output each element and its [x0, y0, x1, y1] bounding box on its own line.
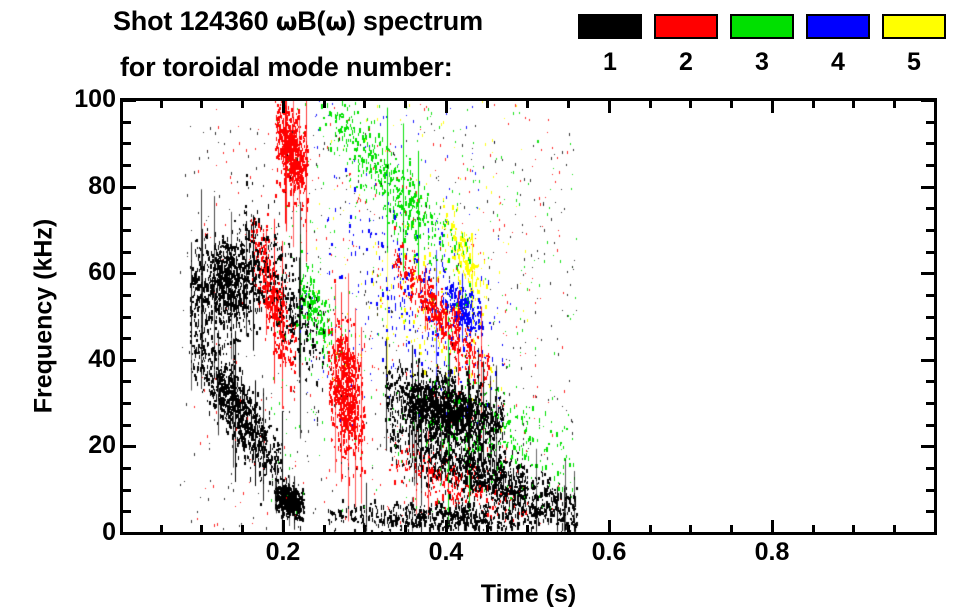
ytick-left-85 [123, 164, 131, 167]
title-mid: B( [297, 6, 325, 36]
xtick-bottom-0.95 [893, 525, 896, 533]
y-tick-label-0: 0 [102, 520, 116, 545]
ytick-right-75 [926, 207, 934, 210]
xtick-bottom-1 [934, 520, 937, 533]
ytick-right-65 [926, 251, 934, 254]
ytick-right-5 [926, 510, 934, 513]
ytick-right-95 [926, 121, 934, 124]
ytick-right-50 [926, 316, 934, 319]
spectrogram-canvas [122, 100, 935, 533]
legend-swatch-mode-3 [730, 14, 794, 39]
x-tick-label-0.6: 0.6 [569, 540, 649, 565]
xtick-top-0.7 [689, 100, 692, 108]
xtick-bottom-0.75 [730, 525, 733, 533]
ytick-right-100 [921, 99, 934, 102]
xtick-top-0.85 [812, 100, 815, 108]
ytick-right-35 [926, 380, 934, 383]
spectrogram-plot: 020406080100 0.20.40.60.8 Frequency (kHz… [122, 100, 935, 533]
ytick-right-0 [921, 532, 934, 535]
ytick-left-70 [123, 229, 131, 232]
ytick-left-95 [123, 121, 131, 124]
legend-item-1: 1 [578, 14, 642, 75]
figure-title-line1: Shot 124360 ωB(ω) spectrum [113, 6, 483, 37]
xtick-top-0.6 [608, 100, 611, 113]
xtick-top-0.1 [200, 100, 203, 108]
xtick-bottom-0.3 [363, 525, 366, 533]
ytick-left-90 [123, 142, 131, 145]
legend-swatch-mode-4 [806, 14, 870, 39]
ytick-left-25 [123, 424, 131, 427]
omega-symbol-1: ω [276, 7, 298, 36]
xtick-top-0.9 [852, 100, 855, 108]
xtick-bottom-0.8 [771, 520, 774, 533]
xtick-top-0.55 [567, 100, 570, 108]
y-tick-label-40: 40 [88, 347, 116, 372]
legend-item-2: 2 [654, 14, 718, 75]
legend-swatch-mode-2 [654, 14, 718, 39]
xtick-top-0.2 [282, 100, 285, 113]
ytick-left-35 [123, 380, 131, 383]
xtick-bottom-0.7 [689, 525, 692, 533]
ytick-left-20 [123, 445, 136, 448]
xtick-top-0.3 [363, 100, 366, 108]
legend-label-mode-3: 3 [730, 50, 794, 75]
xtick-top-0.5 [526, 100, 529, 108]
xtick-top-0.65 [649, 100, 652, 108]
ytick-right-10 [926, 489, 934, 492]
xtick-bottom-0.9 [852, 525, 855, 533]
ytick-right-80 [921, 186, 934, 189]
ytick-right-45 [926, 337, 934, 340]
xtick-top-0.45 [486, 100, 489, 108]
ytick-left-60 [123, 272, 136, 275]
ytick-right-25 [926, 424, 934, 427]
xtick-bottom-0.85 [812, 525, 815, 533]
ytick-left-30 [123, 402, 131, 405]
axis-line-right [934, 98, 937, 535]
x-tick-label-0.2: 0.2 [243, 540, 323, 565]
ytick-left-0 [123, 532, 136, 535]
xtick-bottom-0.45 [486, 525, 489, 533]
ytick-right-20 [921, 445, 934, 448]
ytick-left-75 [123, 207, 131, 210]
ytick-right-40 [921, 359, 934, 362]
legend-label-mode-2: 2 [654, 50, 718, 75]
xtick-bottom-0.6 [608, 520, 611, 533]
xtick-bottom-0.05 [160, 525, 163, 533]
legend-label-mode-5: 5 [882, 50, 946, 75]
xtick-top-1 [934, 100, 937, 113]
legend: 1 2 3 4 5 [578, 14, 948, 90]
y-tick-label-100: 100 [74, 87, 116, 112]
figure-root: Shot 124360 ωB(ω) spectrum for toroidal … [0, 0, 963, 615]
legend-label-mode-1: 1 [578, 50, 642, 75]
ytick-right-70 [926, 229, 934, 232]
xtick-bottom-0.1 [200, 525, 203, 533]
legend-swatch-mode-1 [578, 14, 642, 39]
ytick-left-65 [123, 251, 131, 254]
ytick-left-50 [123, 316, 131, 319]
title-suffix: ) spectrum [347, 6, 483, 36]
ytick-left-80 [123, 186, 136, 189]
legend-item-3: 3 [730, 14, 794, 75]
ytick-right-15 [926, 467, 934, 470]
xtick-top-0.4 [445, 100, 448, 113]
ytick-right-85 [926, 164, 934, 167]
y-tick-label-60: 60 [88, 260, 116, 285]
ytick-right-55 [926, 294, 934, 297]
ytick-left-45 [123, 337, 131, 340]
figure-title-line2: for toroidal mode number: [120, 52, 453, 83]
y-tick-label-20: 20 [88, 433, 116, 458]
ytick-right-60 [921, 272, 934, 275]
ytick-left-55 [123, 294, 131, 297]
ytick-left-40 [123, 359, 136, 362]
ytick-right-90 [926, 142, 934, 145]
y-tick-label-80: 80 [88, 174, 116, 199]
omega-symbol-2: ω [325, 7, 347, 36]
ytick-left-10 [123, 489, 131, 492]
xtick-bottom-0.65 [649, 525, 652, 533]
xtick-bottom-0.2 [282, 520, 285, 533]
ytick-left-5 [123, 510, 131, 513]
xtick-top-0.35 [404, 100, 407, 108]
x-axis-title: Time (s) [122, 580, 935, 609]
title-prefix: Shot 124360 [113, 6, 276, 36]
ytick-left-15 [123, 467, 131, 470]
xtick-bottom-0.4 [445, 520, 448, 533]
xtick-top-0.05 [160, 100, 163, 108]
xtick-top-0.8 [771, 100, 774, 113]
xtick-bottom-0.5 [526, 525, 529, 533]
legend-label-mode-4: 4 [806, 50, 870, 75]
x-tick-label-0.4: 0.4 [406, 540, 486, 565]
xtick-top-0.25 [323, 100, 326, 108]
xtick-top-0.95 [893, 100, 896, 108]
ytick-right-30 [926, 402, 934, 405]
legend-swatch-mode-5 [882, 14, 946, 39]
xtick-bottom-0.25 [323, 525, 326, 533]
legend-item-5: 5 [882, 14, 946, 75]
xtick-top-0.15 [241, 100, 244, 108]
legend-item-4: 4 [806, 14, 870, 75]
ytick-left-100 [123, 99, 136, 102]
y-axis-title: Frequency (kHz) [30, 219, 59, 413]
xtick-bottom-0.15 [241, 525, 244, 533]
xtick-bottom-0.55 [567, 525, 570, 533]
xtick-top-0.75 [730, 100, 733, 108]
x-tick-label-0.8: 0.8 [732, 540, 812, 565]
xtick-bottom-0.35 [404, 525, 407, 533]
